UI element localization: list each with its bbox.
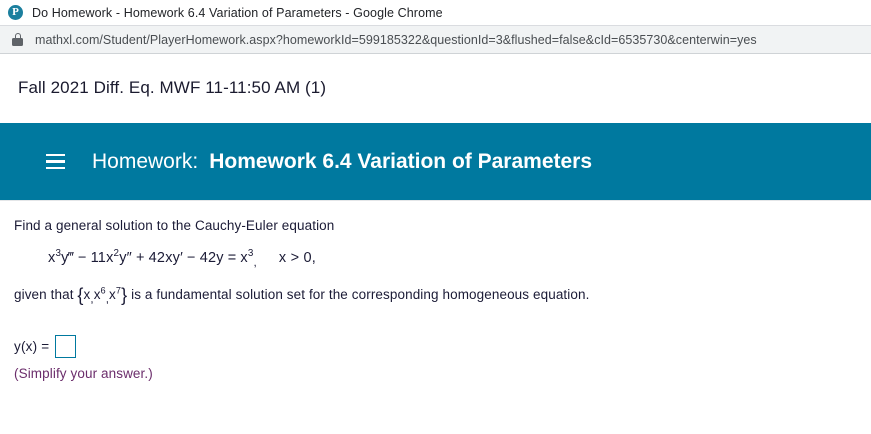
eq-term4: 42y — [200, 250, 224, 266]
eq-term3: 42xy′ — [149, 250, 183, 266]
eq-operator-3: − — [187, 250, 196, 266]
page-content: Fall 2021 Diff. Eq. MWF 11-11:50 AM (1) … — [0, 54, 871, 381]
set-item-2-base: x — [94, 287, 101, 302]
eq-term2-base: x — [106, 250, 113, 266]
eq-rhs-base: x — [240, 250, 247, 266]
answer-label: y(x) = — [14, 339, 49, 354]
eq-operator-1: − — [78, 250, 87, 266]
window-title: Do Homework - Homework 6.4 Variation of … — [32, 6, 443, 20]
eq-comma: , — [254, 256, 257, 269]
homework-label: Homework: — [92, 150, 198, 174]
browser-titlebar: P Do Homework - Homework 6.4 Variation o… — [0, 0, 871, 25]
eq-term2-function: y″ — [119, 250, 132, 266]
eq-domain-condition: x > 0, — [279, 250, 316, 266]
given-statement: given that {x,x6,x7} is a fundamental so… — [14, 287, 871, 302]
homework-banner: Homework: Homework 6.4 Variation of Para… — [0, 123, 871, 201]
url-text[interactable]: mathxl.com/Student/PlayerHomework.aspx?h… — [35, 33, 757, 47]
answer-input[interactable] — [55, 335, 76, 358]
address-bar[interactable]: mathxl.com/Student/PlayerHomework.aspx?h… — [0, 25, 871, 54]
given-suffix: is a fundamental solution set for the co… — [131, 287, 589, 302]
answer-block: y(x) = (Simplify your answer.) — [14, 335, 871, 381]
answer-line: y(x) = — [14, 335, 871, 358]
lock-icon[interactable] — [12, 33, 23, 46]
eq-equals-sign: = — [228, 250, 237, 266]
pearson-favicon: P — [8, 5, 23, 20]
course-title: Fall 2021 Diff. Eq. MWF 11-11:50 AM (1) — [0, 54, 871, 98]
eq-operator-2: + — [136, 250, 145, 266]
simplify-instruction: (Simplify your answer.) — [14, 366, 871, 381]
eq-term2-coefficient: 11 — [91, 250, 106, 266]
question-prompt: Find a general solution to the Cauchy-Eu… — [14, 218, 871, 233]
set-item-3-base: x — [109, 287, 116, 302]
assignment-title: Homework 6.4 Variation of Parameters — [209, 150, 592, 174]
eq-term1-function: y‴ — [61, 250, 74, 266]
hamburger-menu-icon[interactable] — [46, 154, 65, 169]
given-prefix: given that — [14, 287, 74, 302]
set-close-brace: } — [121, 285, 127, 305]
cauchy-euler-equation: x3y‴−11x2y″+42xy′−42y=x3,x > 0, — [48, 250, 871, 266]
question-content: Find a general solution to the Cauchy-Eu… — [0, 201, 871, 381]
